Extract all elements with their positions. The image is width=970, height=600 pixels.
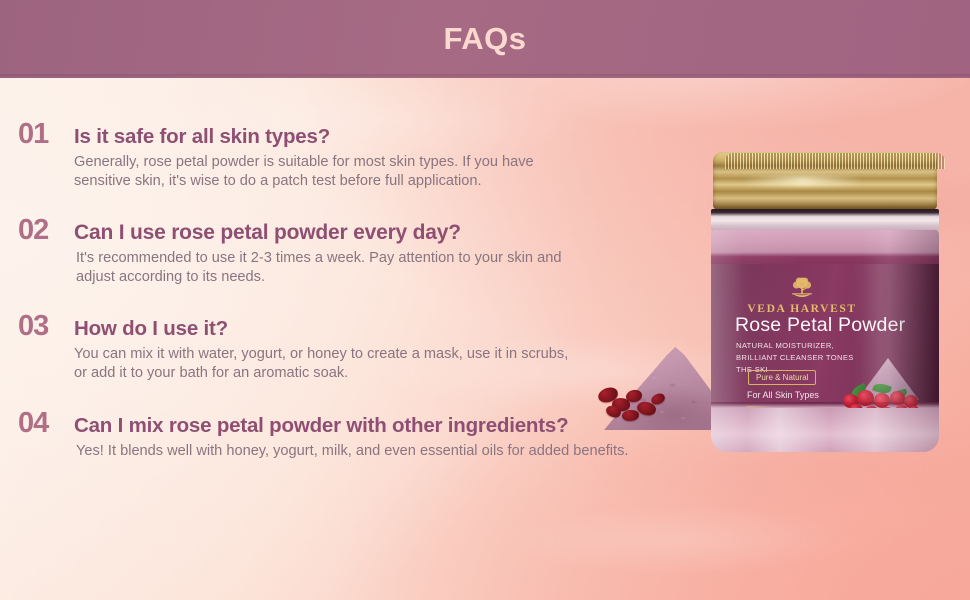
lid-highlight	[743, 176, 863, 186]
faq-question: Can I use rose petal powder every day?	[74, 221, 461, 245]
faq-item[interactable]: 01 Is it safe for all skin types? Genera…	[0, 120, 700, 192]
faq-item-header: 01 Is it safe for all skin types?	[18, 120, 700, 149]
faq-list: 01 Is it safe for all skin types? Genera…	[0, 78, 700, 461]
faq-question: Is it safe for all skin types?	[74, 125, 330, 149]
jar-base	[711, 408, 939, 452]
jar-neck	[711, 209, 939, 231]
tree-logo-icon	[787, 276, 817, 302]
faq-number: 02	[18, 216, 64, 245]
faq-item[interactable]: 03 How do I use it? You can mix it with …	[0, 312, 700, 384]
faq-page: FAQs 01 Is it safe for all skin types? G…	[0, 0, 970, 600]
product-jar: VEDA HARVEST Rose Petal Powder NATURAL M…	[703, 152, 947, 452]
label-divider	[747, 406, 773, 407]
rose-icon	[890, 391, 905, 405]
faq-number: 03	[18, 312, 64, 341]
faq-item-header: 02 Can I use rose petal powder every day…	[18, 216, 700, 245]
brand-block: VEDA HARVEST	[737, 276, 867, 315]
faq-answer: Generally, rose petal powder is suitable…	[74, 153, 584, 192]
faq-header-band: FAQs	[0, 0, 970, 78]
pure-natural-badge: Pure & Natural	[748, 370, 816, 385]
rose-icon	[857, 390, 874, 406]
lid-ribbing	[725, 153, 945, 169]
faq-question: How do I use it?	[74, 317, 228, 341]
rose-icon	[874, 393, 890, 408]
page-title: FAQs	[444, 21, 527, 57]
faq-item[interactable]: 02 Can I use rose petal powder every day…	[0, 216, 700, 288]
skin-types-label: For All Skin Types	[747, 390, 819, 400]
jar-lid	[713, 152, 937, 210]
faq-number: 04	[18, 409, 64, 438]
faq-question: Can I mix rose petal powder with other i…	[74, 414, 568, 438]
product-name: Rose Petal Powder	[735, 314, 905, 337]
faq-number: 01	[18, 120, 64, 149]
jar-base-highlight	[711, 408, 939, 452]
faq-item[interactable]: 04 Can I mix rose petal powder with othe…	[0, 409, 700, 461]
faq-answer: It's recommended to use it 2-3 times a w…	[76, 249, 596, 288]
faq-answer: You can mix it with water, yogurt, or ho…	[74, 345, 584, 384]
